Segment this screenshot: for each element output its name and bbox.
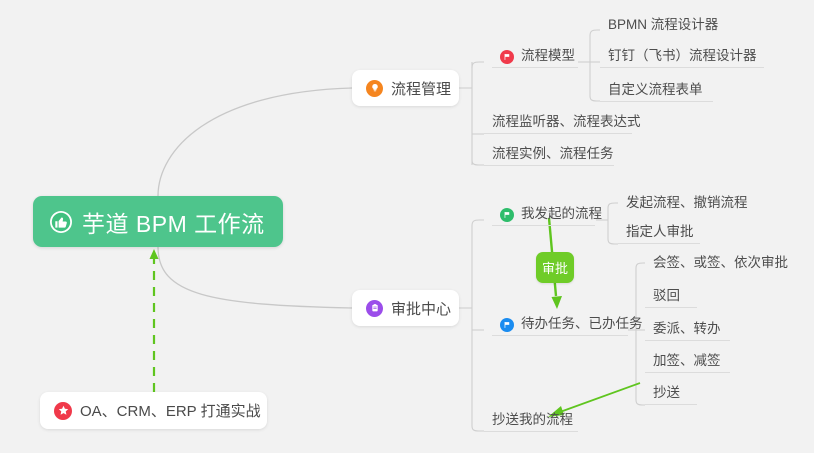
branch-approval-center[interactable]: 审批中心 — [352, 290, 459, 326]
node-reject[interactable]: 驳回 — [645, 282, 697, 308]
node-custom-process-form-label: 自定义流程表单 — [608, 78, 703, 98]
node-bpmn-designer-label: BPMN 流程设计器 — [608, 13, 718, 33]
node-reject-label: 驳回 — [653, 284, 680, 304]
node-add-remove-sign-label: 加签、减签 — [653, 349, 721, 369]
branch-process-management-label: 流程管理 — [391, 78, 451, 99]
node-cc-to-me-label: 抄送我的流程 — [492, 408, 573, 428]
root-label: 芋道 BPM 工作流 — [82, 205, 265, 239]
node-cc-label: 抄送 — [653, 381, 680, 401]
root-node[interactable]: 芋道 BPM 工作流 — [33, 196, 283, 247]
node-add-remove-sign[interactable]: 加签、减签 — [645, 347, 730, 373]
node-bpmn-designer[interactable]: BPMN 流程设计器 — [600, 10, 735, 36]
footnote-label: OA、CRM、ERP 打通实战 — [80, 400, 261, 421]
node-todo-done-task-label: 待办任务、已办任务 — [521, 312, 643, 332]
lightbulb-circle-icon — [366, 80, 383, 97]
star-circle-icon — [54, 402, 72, 420]
node-cc-to-me[interactable]: 抄送我的流程 — [484, 406, 578, 432]
node-instance-task[interactable]: 流程实例、流程任务 — [484, 140, 614, 166]
footnote-node[interactable]: OA、CRM、ERP 打通实战 — [40, 392, 267, 429]
approval-badge[interactable]: 审批 — [536, 252, 574, 283]
node-countersign-label: 会签、或签、依次审批 — [653, 251, 788, 271]
node-dingtalk-feishu-designer-label: 钉钉（飞书）流程设计器 — [608, 44, 757, 64]
node-cc[interactable]: 抄送 — [645, 379, 697, 405]
node-my-started-process[interactable]: 我发起的流程 — [492, 200, 595, 226]
node-custom-process-form[interactable]: 自定义流程表单 — [600, 76, 713, 102]
node-delegate-transfer[interactable]: 委派、转办 — [645, 315, 730, 341]
node-todo-done-task[interactable]: 待办任务、已办任务 — [492, 310, 628, 336]
node-my-started-process-label: 我发起的流程 — [521, 202, 602, 222]
node-listener-expression-label: 流程监听器、流程表达式 — [492, 110, 641, 130]
thumbs-up-circle-icon — [49, 210, 73, 234]
flag-circle-icon — [500, 50, 514, 64]
flag-circle-icon — [500, 208, 514, 222]
node-start-cancel-process[interactable]: 发起流程、撤销流程 — [618, 188, 747, 214]
node-assignee-approval-label: 指定人审批 — [626, 220, 694, 240]
node-countersign[interactable]: 会签、或签、依次审批 — [645, 248, 773, 274]
node-assignee-approval[interactable]: 指定人审批 — [618, 218, 700, 244]
node-start-cancel-process-label: 发起流程、撤销流程 — [626, 191, 748, 211]
approval-badge-label: 审批 — [542, 258, 568, 277]
node-listener-expression[interactable]: 流程监听器、流程表达式 — [484, 108, 632, 134]
flag-circle-icon — [500, 318, 514, 332]
node-delegate-transfer-label: 委派、转办 — [653, 317, 721, 337]
node-instance-task-label: 流程实例、流程任务 — [492, 142, 614, 162]
mindmap-canvas: 芋道 BPM 工作流 OA、CRM、ERP 打通实战 流程管理 流程模型 流程监… — [0, 0, 814, 453]
branch-process-management[interactable]: 流程管理 — [352, 70, 459, 106]
branch-approval-center-label: 审批中心 — [391, 298, 451, 319]
node-process-model-label: 流程模型 — [521, 44, 575, 64]
node-dingtalk-feishu-designer[interactable]: 钉钉（飞书）流程设计器 — [600, 42, 764, 68]
dashed-arrow-to-root — [150, 249, 159, 392]
node-process-model[interactable]: 流程模型 — [492, 42, 578, 68]
clipboard-circle-icon — [366, 300, 383, 317]
